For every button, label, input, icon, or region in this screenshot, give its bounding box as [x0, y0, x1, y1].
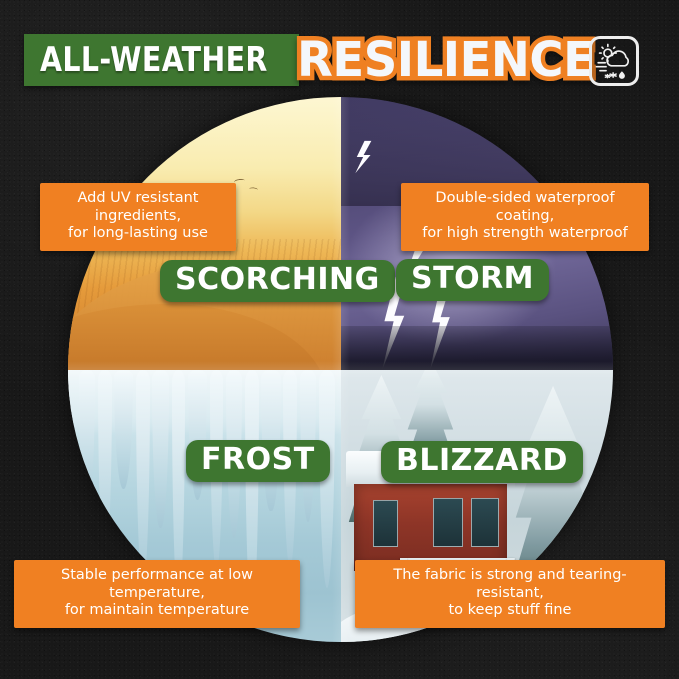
label-storm: STORM	[396, 259, 549, 301]
icicle-icon	[114, 370, 133, 490]
callout-scorching-line1: Add UV resistant ingredients,	[78, 190, 199, 224]
label-blizzard: BLIZZARD	[381, 441, 583, 483]
callout-storm-line1: Double-sided waterproof coating,	[435, 190, 614, 224]
callout-storm-line2: for high strength waterproof	[414, 225, 636, 243]
callout-scorching-line2: for long-lasting use	[53, 225, 223, 243]
label-storm-text: STORM	[411, 264, 534, 294]
page-title-part2: RESILIENCE	[297, 34, 594, 86]
storm-treeline	[341, 326, 614, 370]
callout-frost-line2: for maintain temperature	[27, 602, 287, 620]
icicle-icon	[79, 370, 95, 512]
header-green-band: ALL-WEATHER	[24, 34, 299, 86]
callout-frost: Stable performance at low temperature, f…	[14, 560, 300, 628]
callout-scorching: Add UV resistant ingredients, for long-l…	[40, 183, 236, 251]
icicle-icon	[152, 370, 168, 528]
label-scorching: SCORCHING	[160, 260, 395, 302]
callout-storm: Double-sided waterproof coating, for hig…	[401, 183, 649, 251]
weather-badge-icon	[589, 36, 639, 86]
callout-blizzard: The fabric is strong and tearing-resista…	[355, 560, 665, 628]
all-weather-resilience-poster: ALL-WEATHER RESILIENCE SCORCHING STORM F…	[0, 0, 679, 679]
cabin-window-icon	[471, 498, 498, 547]
callout-blizzard-line2: to keep stuff fine	[368, 602, 652, 620]
icicle-icon	[98, 370, 112, 561]
cabin-window-icon	[433, 498, 463, 547]
bird-icon	[249, 187, 258, 192]
sun-cloud-wind-rain-snow-icon	[592, 39, 636, 83]
icicle-icon	[136, 370, 150, 583]
label-frost: FROST	[186, 440, 330, 482]
label-frost-text: FROST	[201, 445, 315, 475]
label-blizzard-text: BLIZZARD	[396, 446, 568, 476]
callout-frost-line1: Stable performance at low temperature,	[61, 567, 253, 601]
raindrop-icon	[619, 71, 625, 79]
label-scorching-text: SCORCHING	[175, 265, 380, 295]
callout-blizzard-line1: The fabric is strong and tearing-resista…	[393, 567, 626, 601]
header: ALL-WEATHER RESILIENCE	[24, 32, 603, 88]
cabin-window-icon	[373, 500, 398, 546]
page-title-part1: ALL-WEATHER	[40, 40, 268, 80]
